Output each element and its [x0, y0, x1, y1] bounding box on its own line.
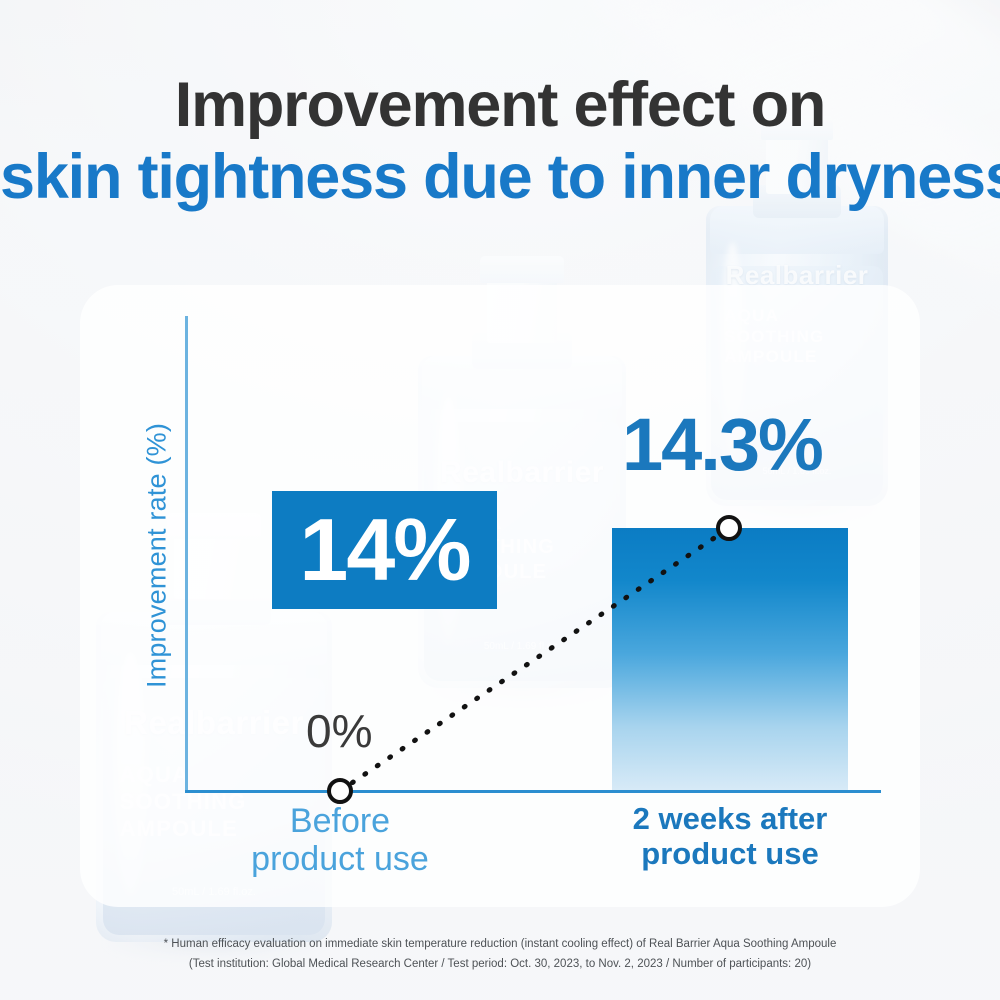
x-tick-after-line1: 2 weeks after	[610, 802, 850, 837]
x-tick-label-before: Before product use	[230, 802, 450, 878]
value-label-after: 14.3%	[622, 408, 822, 482]
page-title: Improvement effect on skin tightness due…	[0, 72, 1000, 210]
headline-line-1: Improvement effect on	[0, 72, 1000, 138]
footnote: * Human efficacy evaluation on immediate…	[0, 934, 1000, 974]
x-tick-label-after: 2 weeks after product use	[610, 802, 850, 871]
value-label-before: 0%	[306, 708, 372, 754]
footnote-line-2: (Test institution: Global Medical Resear…	[0, 954, 1000, 974]
headline-line-2: skin tightness due to inner dryness	[0, 144, 1000, 210]
improvement-badge-value: 14%	[299, 506, 469, 594]
footnote-line-1: * Human efficacy evaluation on immediate…	[0, 934, 1000, 954]
x-tick-after-line2: product use	[610, 837, 850, 872]
improvement-badge: 14%	[272, 491, 497, 609]
data-point-marker-after	[716, 515, 742, 541]
x-tick-before-line2: product use	[230, 840, 450, 878]
data-point-marker-before	[327, 778, 353, 804]
x-tick-before-line1: Before	[230, 802, 450, 840]
